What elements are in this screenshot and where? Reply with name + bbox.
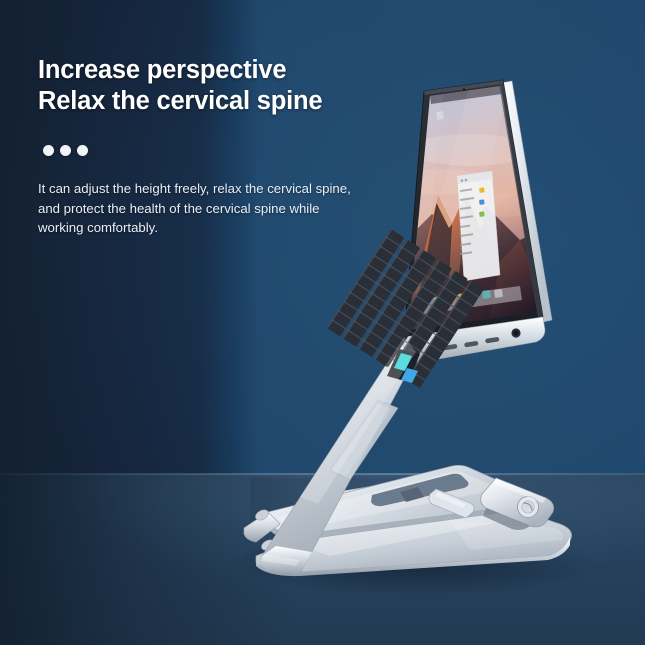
dot-2 — [60, 145, 71, 156]
body-paragraph: It can adjust the height freely, relax t… — [38, 179, 358, 238]
headline-line-2: Relax the cervical spine — [38, 86, 388, 117]
dots-indicator — [43, 145, 388, 156]
headline-line-1: Increase perspective — [38, 55, 388, 86]
dot-1 — [43, 145, 54, 156]
dot-3 — [77, 145, 88, 156]
copy-block: Increase perspective Relax the cervical … — [38, 55, 388, 238]
banner-stage: Increase perspective Relax the cervical … — [0, 0, 645, 645]
